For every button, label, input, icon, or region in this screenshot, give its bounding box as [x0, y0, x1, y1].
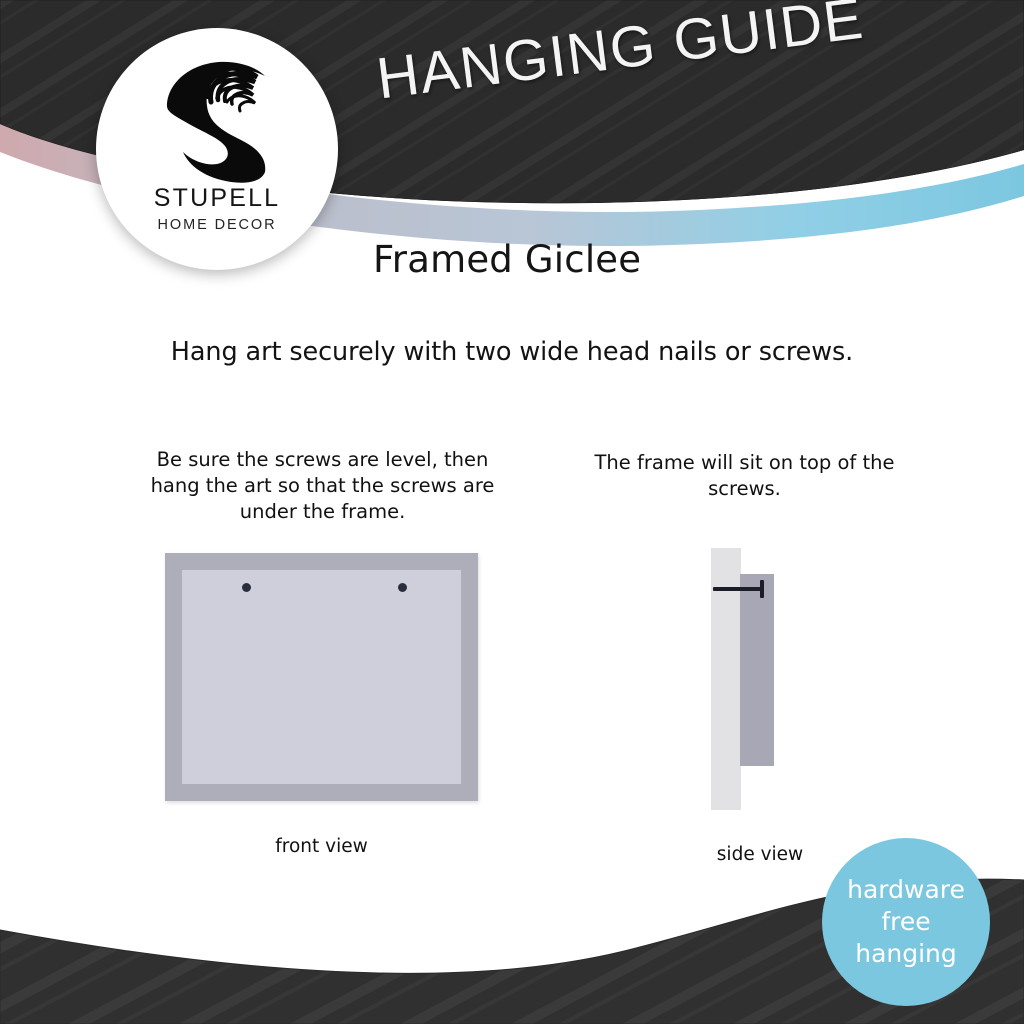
stupell-swirl-logo-icon: [161, 54, 273, 184]
side-view-caption: The frame will sit on top of the screws.: [592, 450, 897, 502]
brand-name: STUPELL: [154, 186, 281, 211]
front-view-art-panel: [182, 570, 461, 784]
nail-head-icon: [760, 580, 764, 598]
badge-line-3: hanging: [855, 938, 957, 970]
frame-strip: [740, 574, 774, 766]
nail-shaft-icon: [713, 587, 763, 591]
side-view-diagram: [700, 540, 820, 820]
brand-logo-badge: STUPELL HOME DECOR: [96, 28, 338, 270]
front-view-label: front view: [165, 836, 478, 857]
page-title: HANGING GUIDE: [373, 0, 868, 112]
badge-line-1: hardware: [847, 874, 965, 906]
hanging-guide-infographic: STUPELL HOME DECOR HANGING GUIDE Framed …: [0, 0, 1024, 1024]
brand-tagline: HOME DECOR: [158, 218, 277, 233]
front-view-caption: Be sure the screws are level, then hang …: [150, 447, 495, 525]
screw-dot-left-icon: [242, 583, 251, 592]
screw-dot-right-icon: [398, 583, 407, 592]
product-subtitle: Framed Giclee: [373, 238, 641, 281]
main-instruction: Hang art securely with two wide head nai…: [0, 337, 1024, 367]
badge-line-2: free: [881, 906, 930, 938]
side-view-label: side view: [660, 844, 860, 865]
front-view-diagram: [165, 553, 478, 801]
hardware-free-hanging-badge: hardware free hanging: [822, 838, 990, 1006]
